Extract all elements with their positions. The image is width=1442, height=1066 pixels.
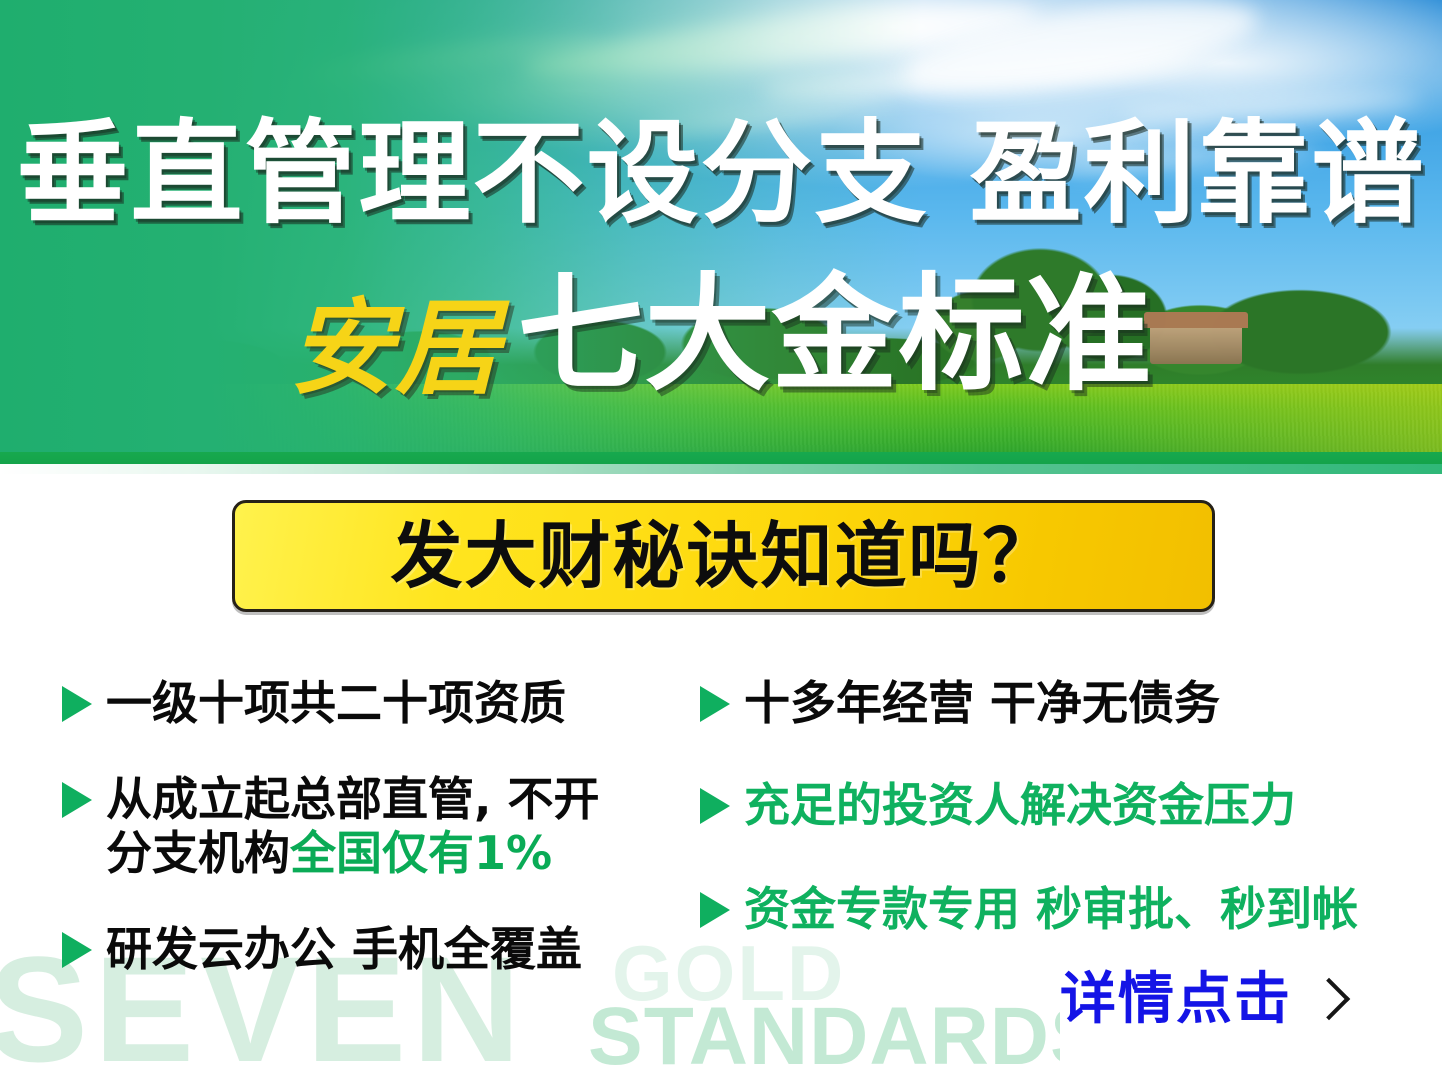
watermark-standards: STANDARDS	[588, 996, 1060, 1066]
triangle-bullet-icon	[700, 788, 730, 824]
chevron-right-icon	[1308, 977, 1350, 1019]
feature-text: 研发云办公 手机全覆盖	[106, 922, 582, 976]
highlight-question-text: 发大财秘诀知道吗？	[390, 520, 1056, 592]
feature-text-line2-highlight: 全国仅有1%	[290, 826, 552, 880]
triangle-bullet-icon	[62, 782, 92, 818]
feature-item: 研发云办公 手机全覆盖	[62, 922, 582, 976]
feature-list: 一级十项共二十项资质 从成立起总部直管, 不开分支机构全国仅有1% 研发云办公 …	[0, 660, 1442, 1000]
hero-headline-line1: 垂直管理不设分支 盈利靠谱	[0, 118, 1442, 230]
feature-item: 十多年经营 干净无债务	[700, 676, 1220, 730]
triangle-bullet-icon	[700, 686, 730, 722]
hero-bottom-bar	[0, 452, 1442, 464]
triangle-bullet-icon	[700, 892, 730, 928]
hero-headline-line2: 安居七大金标准	[0, 272, 1442, 400]
details-link-label: 详情点击	[1060, 972, 1292, 1028]
highlight-question-banner[interactable]: 发大财秘诀知道吗？	[232, 500, 1215, 612]
feature-text: 一级十项共二十项资质	[106, 676, 566, 730]
feature-item: 资金专款专用 秒审批、秒到帐	[700, 882, 1358, 936]
feature-item: 充足的投资人解决资金压力	[700, 778, 1296, 832]
hero-headline-main: 七大金标准	[518, 261, 1153, 408]
feature-item: 从成立起总部直管, 不开分支机构全国仅有1%	[62, 772, 626, 881]
feature-text: 资金专款专用 秒审批、秒到帐	[744, 882, 1358, 936]
feature-text: 从成立起总部直管, 不开分支机构全国仅有1%	[106, 772, 626, 881]
triangle-bullet-icon	[62, 932, 92, 968]
feature-text-line1: 从成立起总部直管, 不开	[106, 772, 600, 826]
feature-text-line2-black: 分支机构	[106, 826, 290, 880]
feature-item: 一级十项共二十项资质	[62, 676, 566, 730]
feature-text: 十多年经营 干净无债务	[744, 676, 1220, 730]
feature-text: 充足的投资人解决资金压力	[744, 778, 1296, 832]
hero-bottom-bar-fade	[0, 464, 1442, 474]
triangle-bullet-icon	[62, 686, 92, 722]
details-link[interactable]: 详情点击	[1060, 972, 1344, 1028]
hero-banner: 垂直管理不设分支 盈利靠谱 安居七大金标准	[0, 0, 1442, 452]
brand-name: 安居	[289, 286, 501, 409]
